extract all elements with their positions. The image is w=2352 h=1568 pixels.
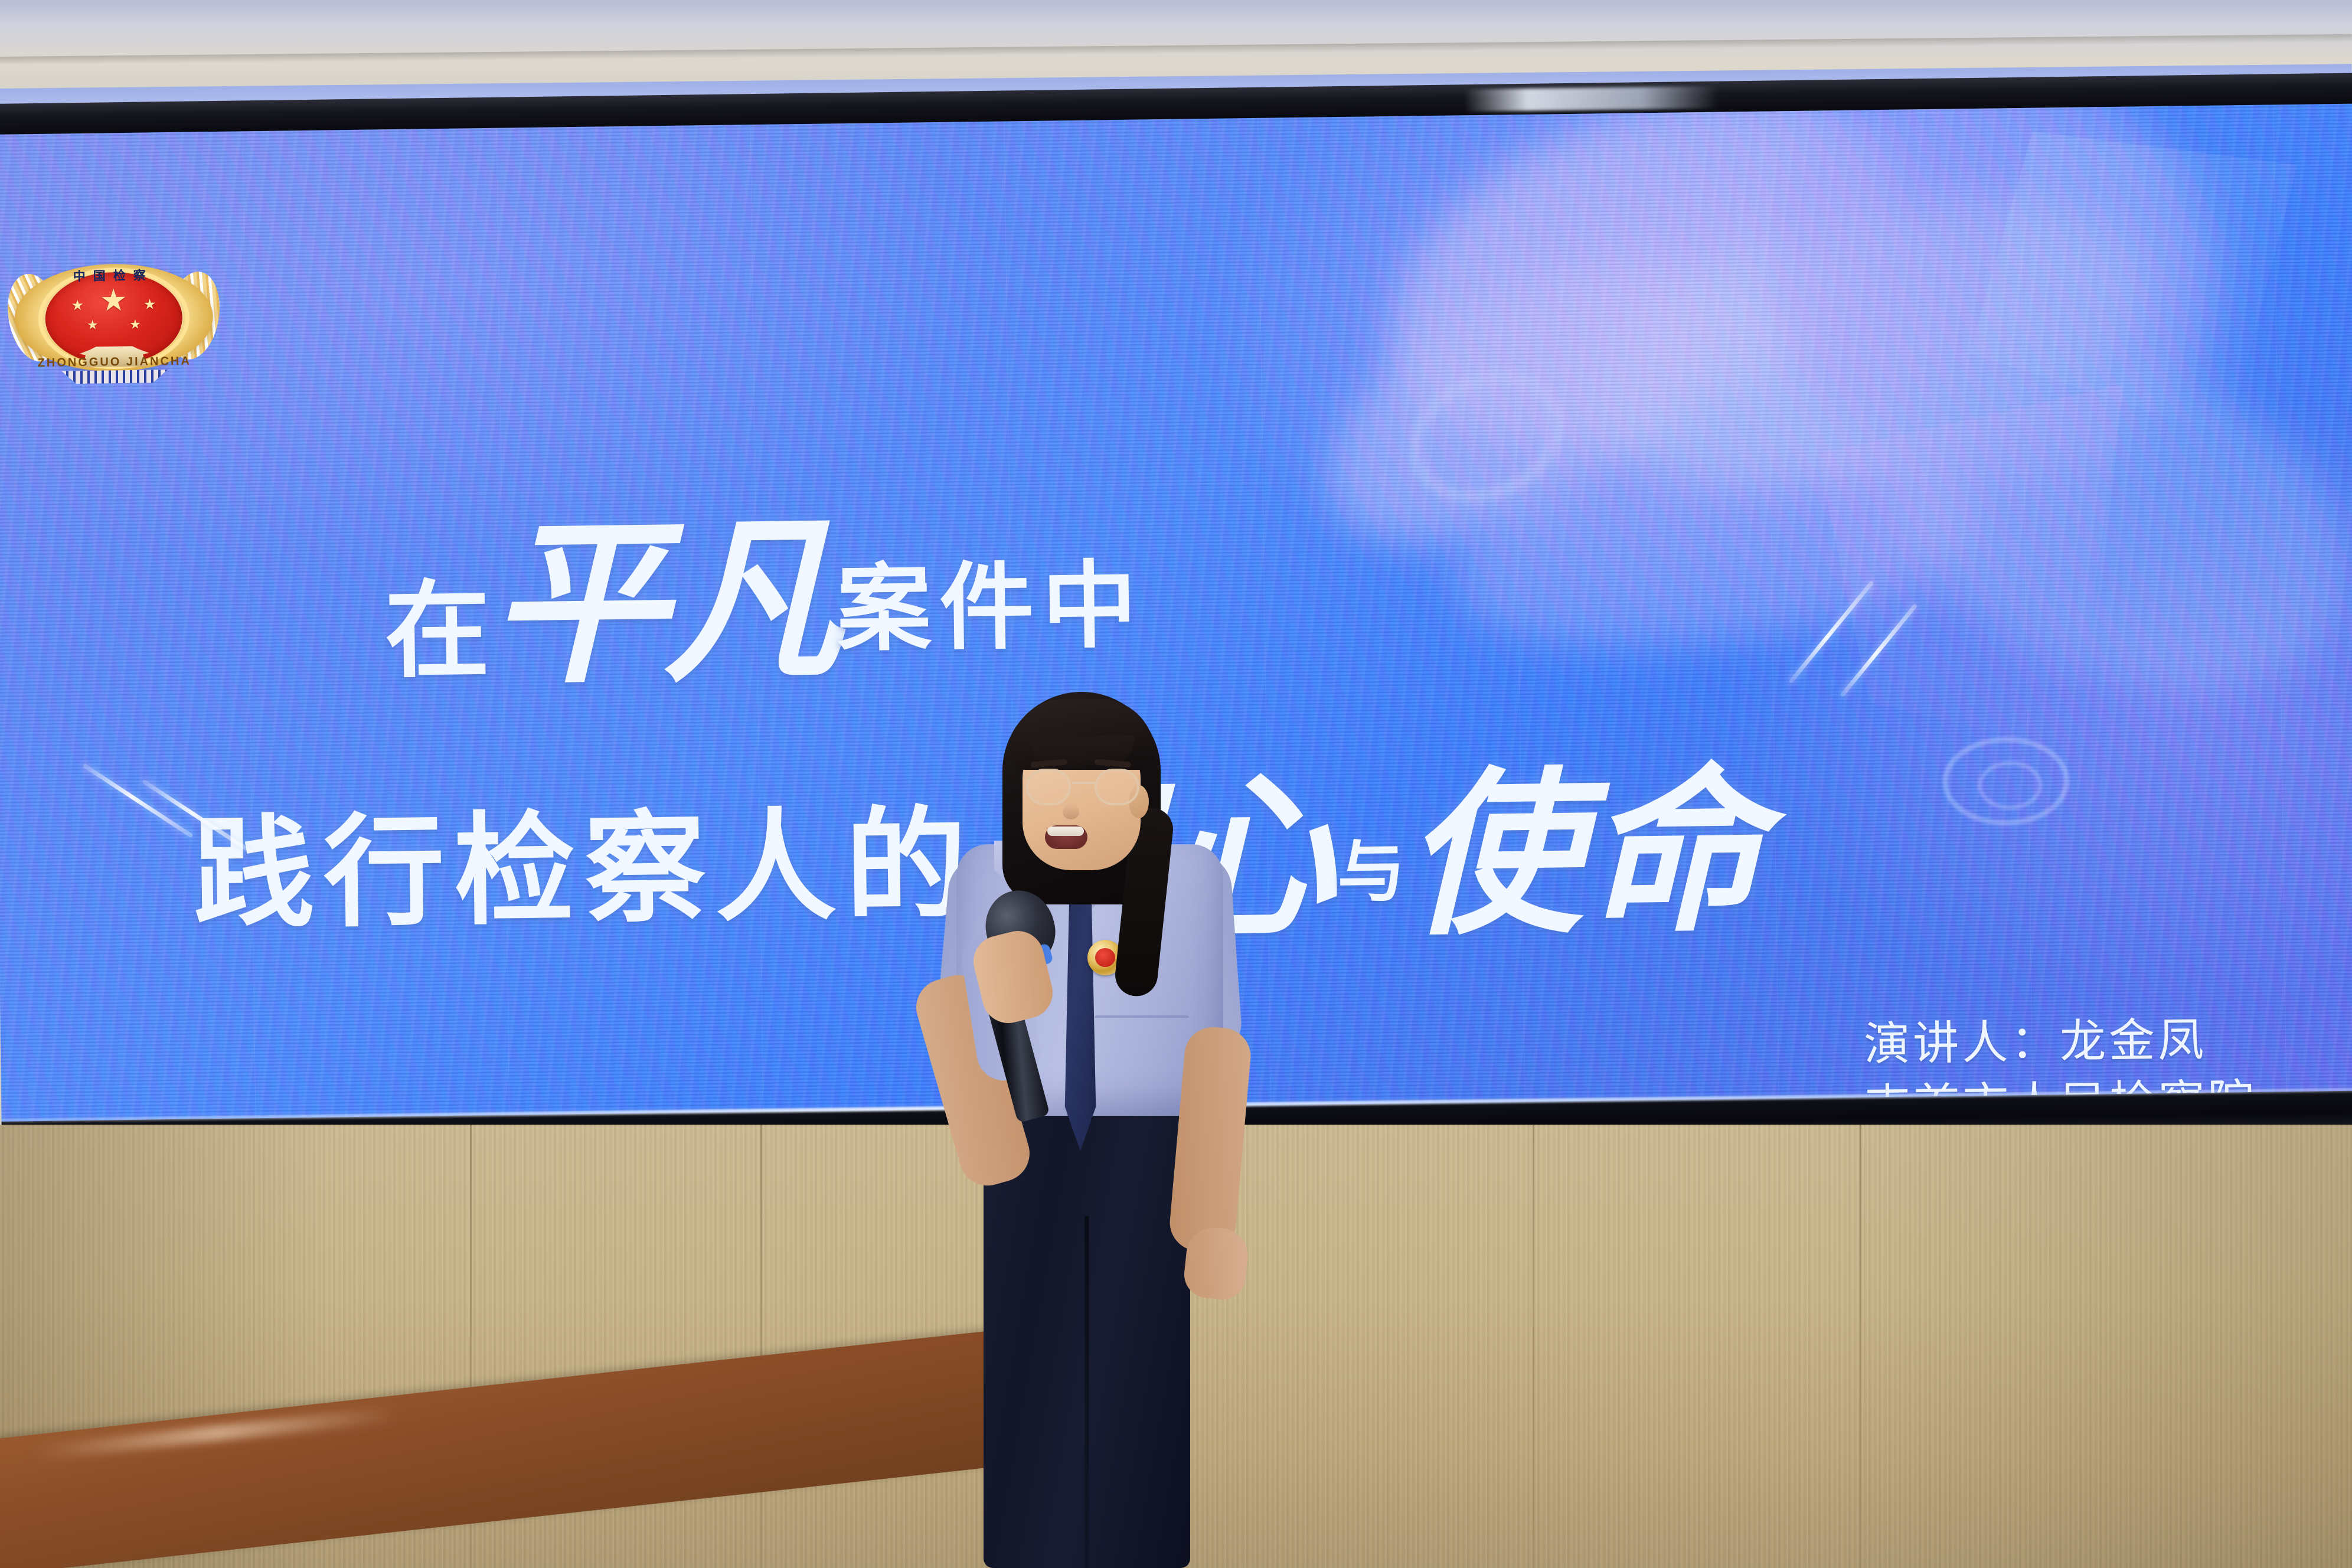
- title-line1-suffix: 案件中: [836, 553, 1145, 662]
- shirt-pocket: [1095, 1015, 1189, 1070]
- wood-seam: [1860, 1125, 1861, 1568]
- credit-speaker-line: 演讲人：龙金凤: [1863, 1008, 2256, 1075]
- eyeglass-lens-left: [1026, 769, 1071, 805]
- eyeglass-bridge: [1072, 782, 1095, 784]
- emblem-pinyin-text: ZHONGGUO JIANCHA: [15, 354, 214, 370]
- bezel-reflection-highlight: [1464, 86, 1718, 112]
- emblem-star-large: ★: [100, 285, 128, 316]
- title-line1-prefix: 在: [384, 573, 491, 691]
- stage-scene: ★ ★ ★ ★ ★ 中国检察 ZHONGGUO JIANCHA 在平凡案件中 践…: [0, 0, 2352, 1568]
- title-line2-accent2: 使命: [1404, 755, 1768, 956]
- emblem-star-3: ★: [143, 298, 156, 312]
- emblem-star-1: ★: [71, 299, 84, 313]
- speaker-teeth: [1047, 827, 1084, 836]
- eyeglass-lens-right: [1095, 769, 1139, 805]
- ceiling-seam: [0, 34, 2352, 65]
- emblem-star-2: ★: [87, 319, 99, 332]
- speaker-nose: [1063, 804, 1079, 819]
- eyeglasses-icon: [1025, 769, 1141, 805]
- wood-seam: [1533, 1125, 1534, 1568]
- trouser-leg-split: [1085, 1216, 1089, 1568]
- emblem-chinese-text: 中国检察: [14, 265, 213, 285]
- china-procuratorate-emblem: ★ ★ ★ ★ ★ 中国检察 ZHONGGUO JIANCHA: [14, 247, 214, 388]
- emblem-fence: [61, 370, 168, 384]
- emblem-star-4: ★: [129, 318, 141, 331]
- speaker-hair-front: [1010, 699, 1155, 770]
- title-line2-conjunction: 与: [1337, 835, 1406, 910]
- speaker-person: [868, 697, 1293, 1568]
- wood-seam: [760, 1125, 762, 1568]
- title-line1-accent: 平凡: [488, 504, 838, 705]
- title-line2-prefix: 践行检察人的: [192, 799, 977, 943]
- slide-title-line-1: 在平凡案件中: [383, 453, 1146, 719]
